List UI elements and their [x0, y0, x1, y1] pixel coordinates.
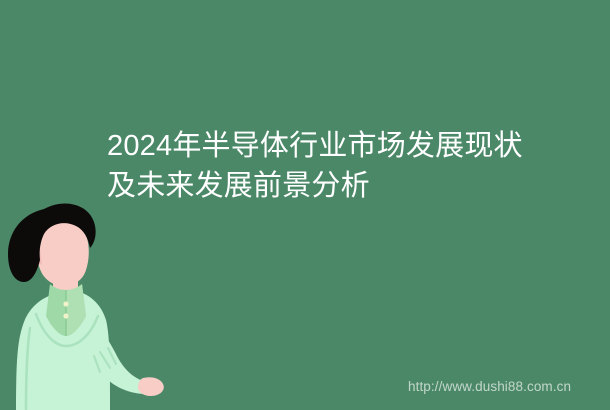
person-illustration [0, 196, 190, 410]
torso-shape [16, 290, 110, 410]
banner-headline: 2024年半导体行业市场发展现状及未来发展前景分析 [107, 126, 547, 206]
sleeve-fold-lines [94, 348, 116, 372]
face-shape [36, 218, 89, 286]
promo-banner: 2024年半导体行业市场发展现状及未来发展前景分析 http://www.dus… [0, 0, 610, 410]
seam-shape [26, 328, 30, 410]
hair-shape [8, 203, 96, 282]
watermark-url: http://www.dushi88.com.cn [408, 378, 571, 396]
neck-shape [53, 270, 78, 300]
collar-shape [46, 284, 86, 336]
neckline-shape [36, 314, 98, 346]
arm-shape [78, 318, 150, 394]
collar-shade-shape [66, 284, 86, 336]
button-lower [63, 313, 68, 318]
button-upper [63, 301, 68, 306]
ear-shape [31, 247, 42, 264]
hand-shape [138, 377, 164, 396]
